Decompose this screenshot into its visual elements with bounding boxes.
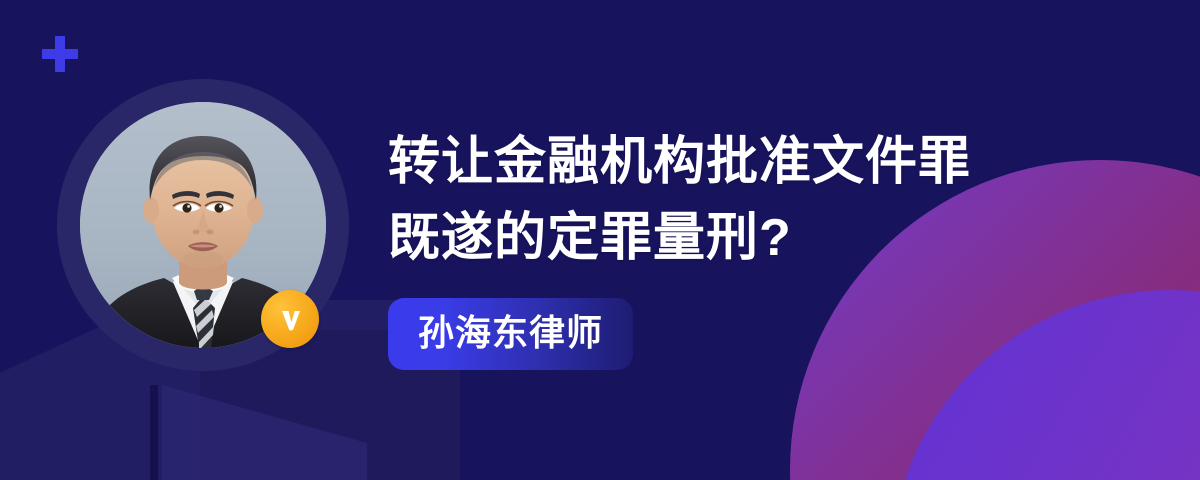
author-name-badge[interactable]: 孙海东律师 <box>388 298 633 370</box>
lawyer-question-banner: 转让金融机构批准文件罪 既遂的定罪量刑? 孙海东律师 <box>0 0 1200 480</box>
plus-icon-vertical-bar <box>55 36 65 72</box>
plus-icon <box>42 36 78 72</box>
decor-vertical-band <box>150 385 158 480</box>
text-content: 转让金融机构批准文件罪 既遂的定罪量刑? 孙海东律师 <box>388 124 1178 370</box>
avatar[interactable] <box>57 79 349 371</box>
decor-triangle <box>162 385 367 480</box>
verified-badge-icon <box>261 290 319 348</box>
page-title: 转让金融机构批准文件罪 既遂的定罪量刑? <box>388 124 1178 276</box>
